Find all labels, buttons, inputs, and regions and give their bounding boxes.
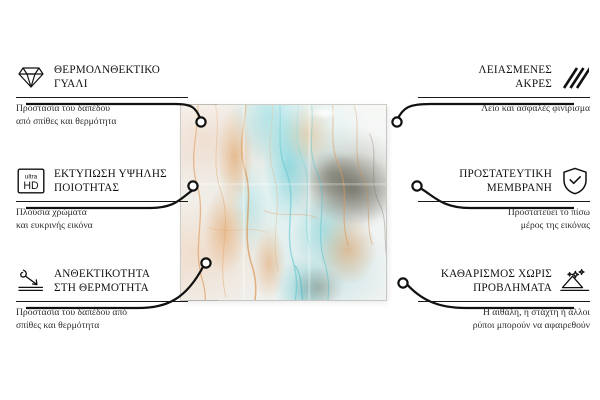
feature-description: Πλούσια χρώματα και ευκρινής εικόνα: [16, 207, 188, 232]
feature-header: ΘΕΡΜΟΛΝΘΕΚΤΙΚΟ ΓΥΑΛΙ: [16, 62, 188, 92]
feature-title: ΑΝΘΕΚΤΙΚΟΤΗΤΑ ΣΤΗ ΘΕΡΜΟΤΗΤΑ: [54, 267, 150, 295]
glass-window-reflection: [181, 105, 386, 300]
feature-header: ΛΕΙΑΣΜΕΝΕΣ ΑΚΡΕΣ: [418, 62, 590, 92]
product-image-container: [181, 105, 400, 300]
feature-easy-cleaning: ΚΑΘΑΡΙΣΜΟΣ ΧΩΡΙΣ ΠΡΟΒΛΗΜΑΤΑ Η αιθάλη, η …: [418, 266, 590, 332]
feature-description: Η αιθάλη, η στάχτη ή άλλοι ρύποι μπορούν…: [418, 307, 590, 332]
heat-spark-icon: [16, 266, 46, 296]
feature-divider: [16, 201, 188, 202]
feature-title: ΛΕΙΑΣΜΕΝΕΣ ΑΚΡΕΣ: [479, 63, 552, 91]
feature-description: Προστατεύει το πίσω μέρος της εικόνας: [418, 207, 590, 232]
feature-divider: [418, 301, 590, 302]
feature-header: ΑΝΘΕΚΤΙΚΟΤΗΤΑ ΣΤΗ ΘΕΡΜΟΤΗΤΑ: [16, 266, 188, 296]
feature-title: ΠΡΟΣΤΑΤΕΥΤΙΚΗ ΜΕΜΒΡΑΝΗ: [459, 167, 552, 195]
feature-divider: [16, 301, 188, 302]
shield-check-icon: [560, 166, 590, 196]
feature-description: Προστασία του δαπέδου από σπίθες και θερ…: [16, 307, 188, 332]
feature-description: Προστασία του δαπέδου από σπίθες και θερ…: [16, 103, 188, 128]
feature-polished-edges: ΛΕΙΑΣΜΕΝΕΣ ΑΚΡΕΣ Λείο και ασφαλές φινίρι…: [418, 62, 590, 116]
feature-header: ultra HD ΕΚΤΥΠΩΣΗ ΥΨΗΛΗΣ ΠΟΙΟΤΗΤΑΣ: [16, 166, 188, 196]
feature-divider: [418, 201, 590, 202]
product-image-frame: [181, 105, 386, 300]
feature-high-quality-print: ultra HD ΕΚΤΥΠΩΣΗ ΥΨΗΛΗΣ ΠΟΙΟΤΗΤΑΣ Πλούσ…: [16, 166, 188, 232]
easy-clean-icon: [560, 266, 590, 296]
feature-title: ΘΕΡΜΟΛΝΘΕΚΤΙΚΟ ΓΥΑΛΙ: [54, 63, 160, 91]
polished-edges-icon: [560, 62, 590, 92]
feature-header: ΠΡΟΣΤΑΤΕΥΤΙΚΗ ΜΕΜΒΡΑΝΗ: [418, 166, 590, 196]
feature-divider: [16, 97, 188, 98]
diamond-icon: [16, 62, 46, 92]
feature-heat-resistant-glass: ΘΕΡΜΟΛΝΘΕΚΤΙΚΟ ΓΥΑΛΙ Προστασία του δαπέδ…: [16, 62, 188, 128]
ultra-hd-large-label: HD: [23, 180, 39, 192]
glass-highlight-glint: [308, 107, 341, 119]
feature-heat-durability: ΑΝΘΕΚΤΙΚΟΤΗΤΑ ΣΤΗ ΘΕΡΜΟΤΗΤΑ Προστασία το…: [16, 266, 188, 332]
ultra-hd-icon: ultra HD: [16, 166, 46, 196]
feature-title: ΚΑΘΑΡΙΣΜΟΣ ΧΩΡΙΣ ΠΡΟΒΛΗΜΑΤΑ: [441, 267, 552, 295]
feature-header: ΚΑΘΑΡΙΣΜΟΣ ΧΩΡΙΣ ΠΡΟΒΛΗΜΑΤΑ: [418, 266, 590, 296]
feature-description: Λείο και ασφαλές φινίρισμα: [418, 103, 590, 116]
marble-artwork: [181, 105, 386, 300]
feature-divider: [418, 97, 590, 98]
feature-protective-membrane: ΠΡΟΣΤΑΤΕΥΤΙΚΗ ΜΕΜΒΡΑΝΗ Προστατεύει το πί…: [418, 166, 590, 232]
feature-title: ΕΚΤΥΠΩΣΗ ΥΨΗΛΗΣ ΠΟΙΟΤΗΤΑΣ: [54, 167, 167, 195]
infographic-canvas: ΘΕΡΜΟΛΝΘΕΚΤΙΚΟ ΓΥΑΛΙ Προστασία του δαπέδ…: [0, 0, 600, 400]
